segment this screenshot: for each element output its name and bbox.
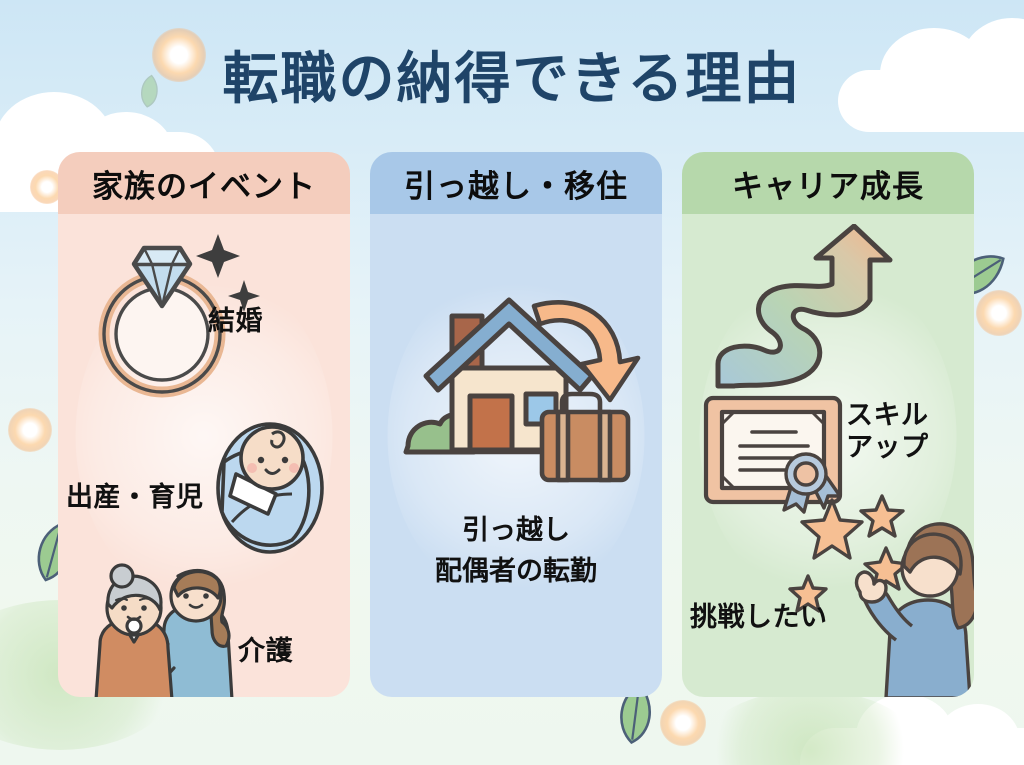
cloud-bottom-right-icon [800,690,1024,765]
item-label-childbirth: 出産・育児 [66,482,204,514]
card-career-growth[interactable]: キャリア成長 [682,152,974,697]
item-label-spouse-transfer: 配偶者の転勤 [370,551,662,592]
sparkle-orb-right-icon [976,290,1022,336]
item-label-moving: 引っ越し [370,510,662,551]
card-body-family-events: 結婚 出産・育児 [58,214,350,697]
card-family-events[interactable]: 家族のイベント [58,152,350,697]
card-body-career-growth: スキル アップ [682,214,974,697]
swaddled-baby-icon [206,410,334,556]
infographic-canvas: 転職の納得できる理由 家族のイベント [0,0,1024,765]
house-moving-icon [394,260,652,490]
soft-green-blob [700,690,920,765]
item-label-skill-up: スキル アップ [846,400,929,464]
item-labels-relocation: 引っ越し 配偶者の転勤 [370,510,662,591]
caregiver-elderly-icon [82,560,262,697]
card-body-relocation: 引っ越し 配偶者の転勤 [370,214,662,697]
item-label-marriage: 結婚 [208,306,263,338]
card-header-career-growth: キャリア成長 [682,152,974,214]
card-relocation[interactable]: 引っ越し・移住 [370,152,662,697]
reason-card-row: 家族のイベント [58,152,974,697]
card-header-family-events: 家族のイベント [58,152,350,214]
woman-reaching-stars-icon [786,492,974,697]
sparkle-orb-bottom-left-icon [660,700,706,746]
item-label-challenge: 挑戦したい [690,602,828,634]
item-label-nursing-care: 介護 [238,636,293,668]
card-header-relocation: 引っ越し・移住 [370,152,662,214]
page-title: 転職の納得できる理由 [0,34,1024,115]
winding-upward-arrow-icon [708,224,918,394]
sparkle-orb-left-icon [8,408,52,452]
